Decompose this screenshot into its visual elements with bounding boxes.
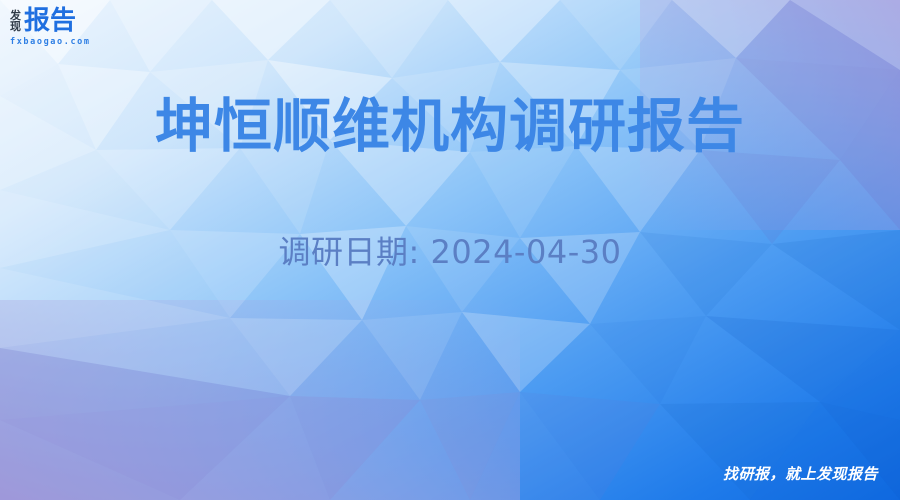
report-cover-slide: 发 现 报告 fxbaogao.com 坤恒顺维机构调研报告 调研日期: 202… <box>0 0 900 500</box>
footer-tagline: 找研报，就上发现报告 <box>723 464 878 484</box>
logo-mark-stack: 发 现 <box>10 8 21 32</box>
logo-mark-bottom-char: 现 <box>10 21 21 32</box>
logo-mark: 发 现 报告 <box>10 8 76 34</box>
logo-wordmark: 报告 <box>24 8 76 34</box>
brand-logo[interactable]: 发 现 报告 <box>10 8 130 54</box>
page-title: 坤恒顺维机构调研报告 <box>0 90 900 162</box>
logo-domain-text: fxbaogao.com <box>10 37 91 47</box>
research-date-subtitle: 调研日期: 2024-04-30 <box>0 230 900 274</box>
